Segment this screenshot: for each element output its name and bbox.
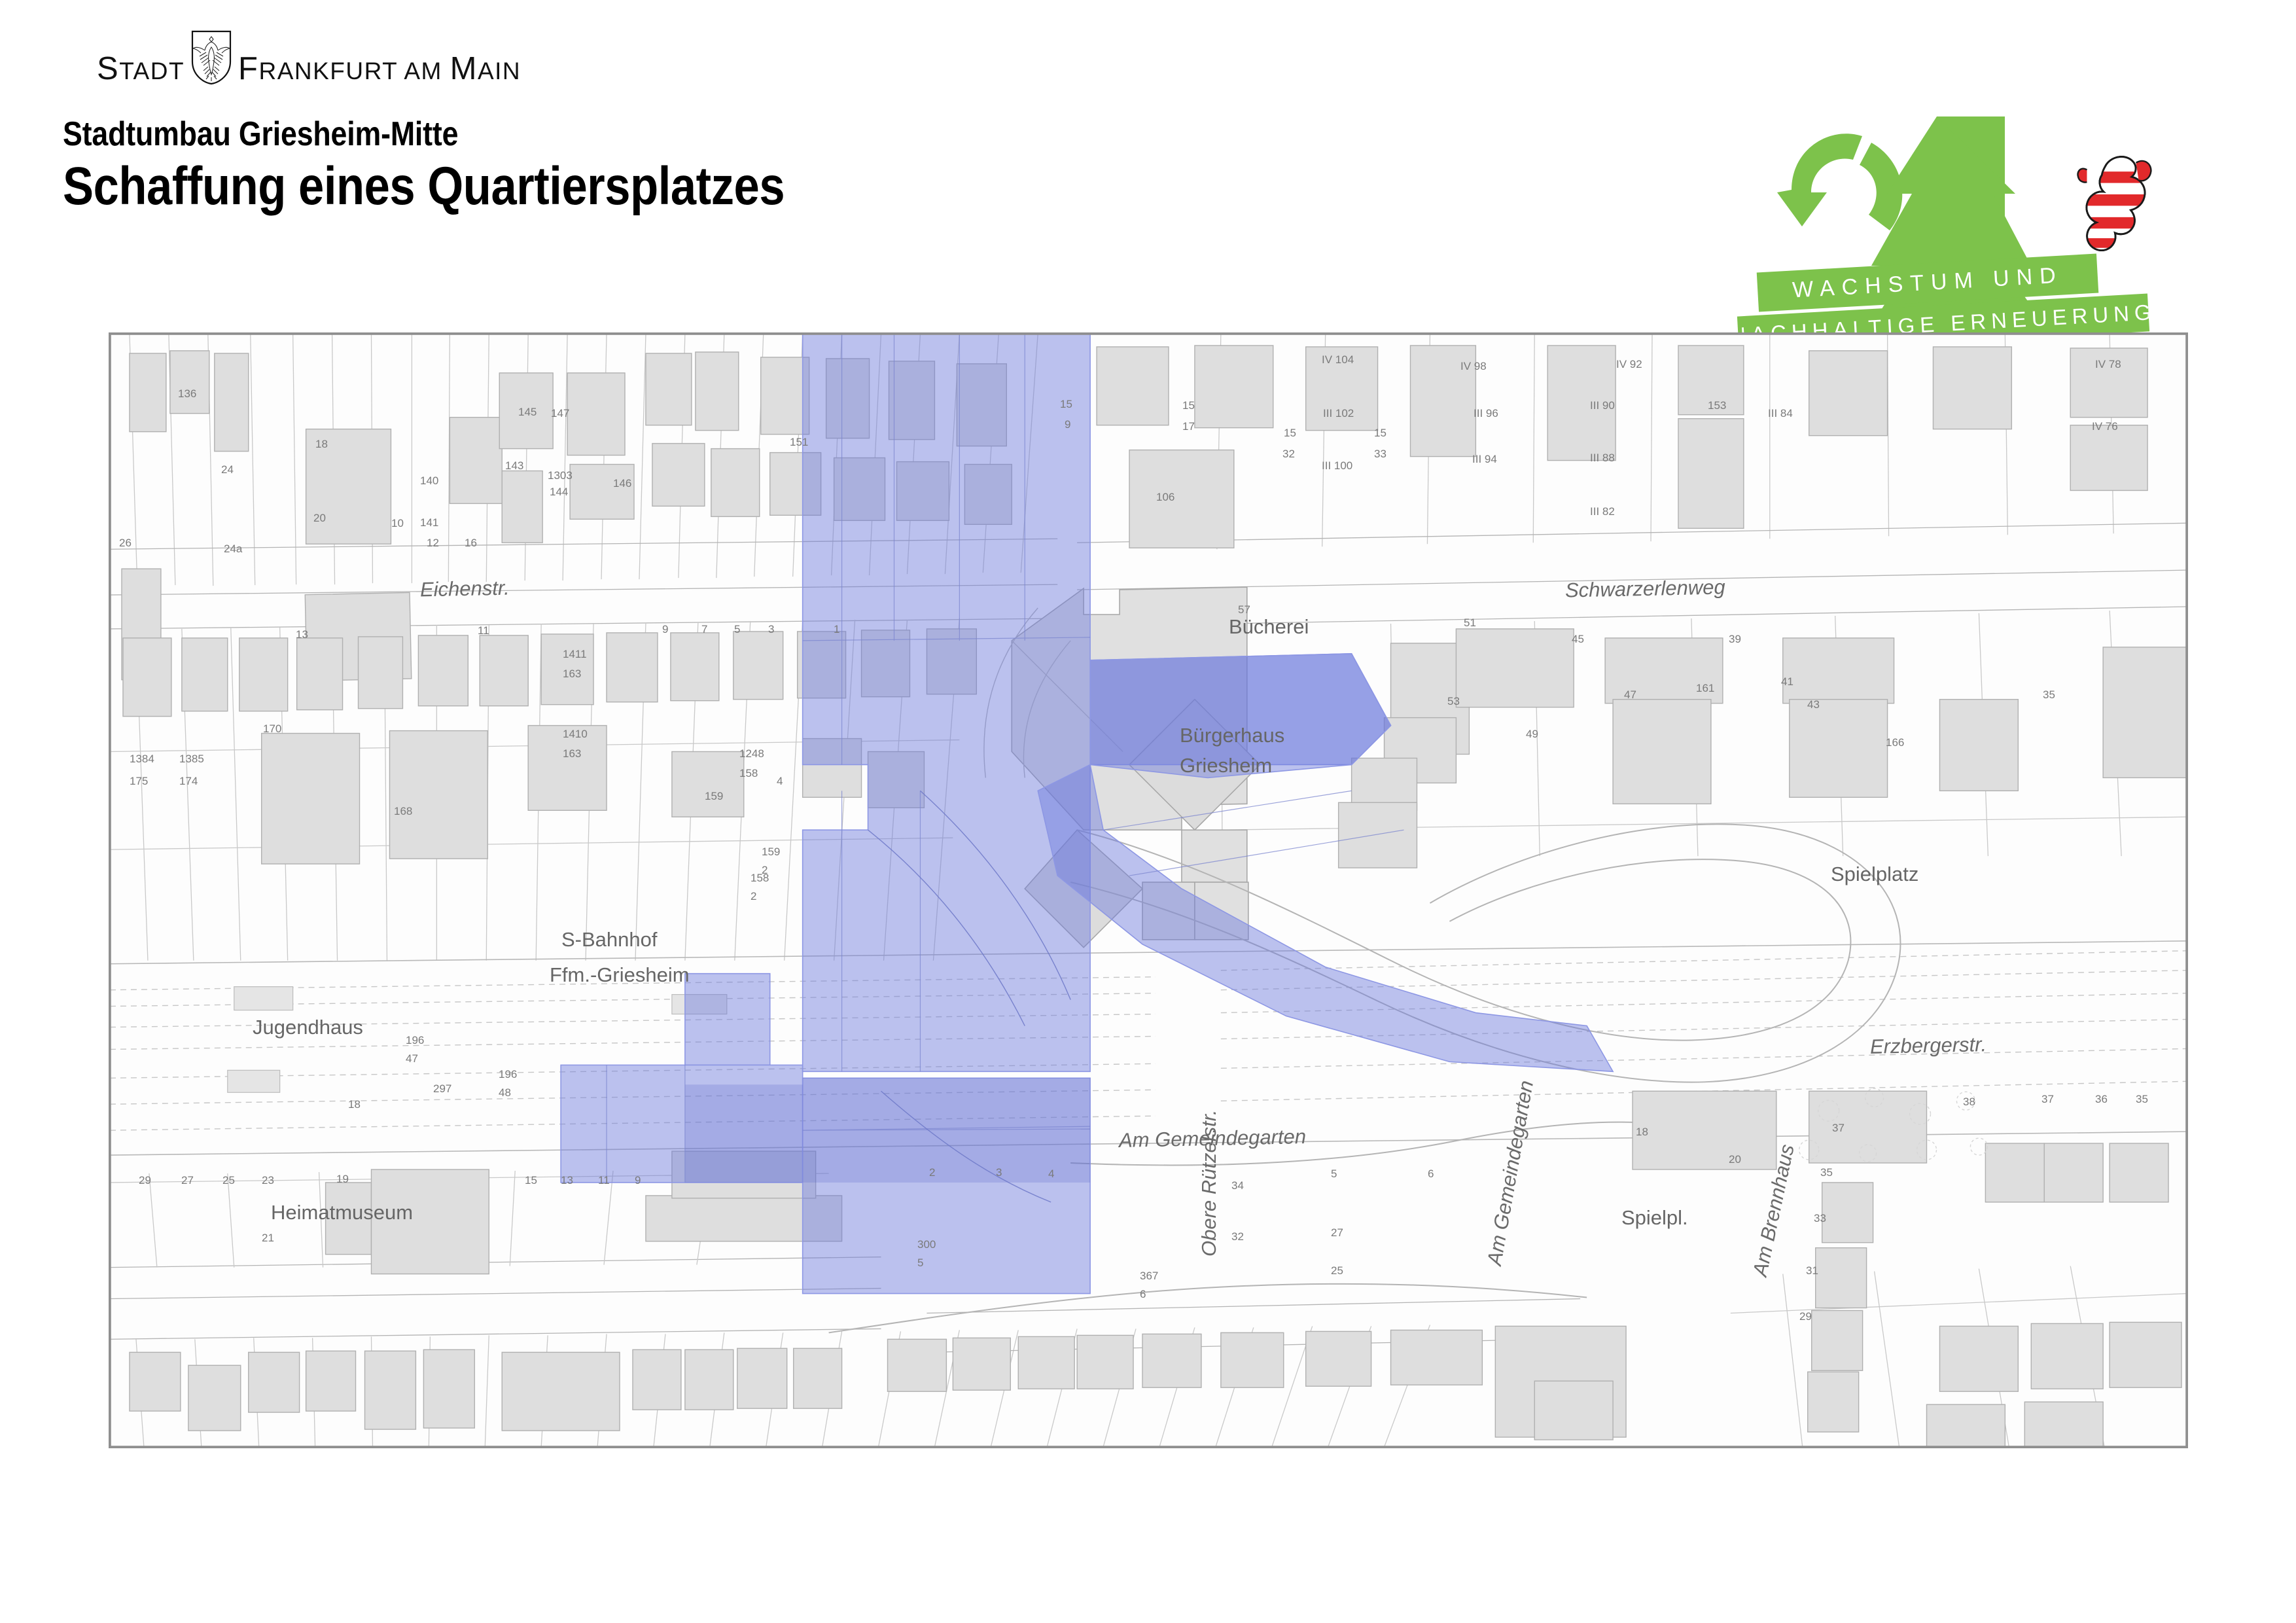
parcel-number: 5 [734, 623, 740, 636]
parcel-number: 32 [1282, 448, 1295, 461]
parcel-number: 43 [1807, 698, 1820, 711]
parcel-number: 2 [929, 1166, 935, 1179]
parcel-number: 196 [499, 1068, 517, 1081]
parcel-number: 297 [433, 1082, 451, 1096]
frankfurt-eagle-crest-icon [191, 30, 232, 85]
frankfurt-am-main-word: FRANKFURT AM MAIN [238, 53, 521, 85]
parcel-number: 19 [336, 1173, 349, 1186]
parcel-number: 13 [561, 1174, 573, 1187]
parcel-number: 33 [1814, 1212, 1826, 1225]
parcel-number: III 82 [1590, 505, 1615, 518]
parcel-number: 1303 [548, 469, 573, 482]
parcel-number: 159 [762, 846, 780, 859]
parcel-number: 161 [1696, 682, 1714, 695]
parcel-number: 6 [1428, 1168, 1434, 1181]
parcel-number: 159 [705, 790, 723, 803]
parcel-number: 53 [1447, 695, 1460, 708]
parcel-number: 300 [917, 1238, 936, 1251]
parcel-number: 158 [739, 767, 758, 780]
parcel-number: 141 [420, 516, 438, 529]
parcel-number: 168 [394, 805, 412, 818]
parcel-number: 163 [563, 747, 581, 760]
parcel-number: 146 [613, 477, 631, 490]
parcel-number: 49 [1526, 728, 1538, 741]
parcel-number: IV 76 [2092, 420, 2118, 433]
parcel-number: 25 [1331, 1264, 1343, 1277]
parcel-number: 48 [499, 1086, 511, 1099]
parcel-number: 27 [1331, 1226, 1343, 1240]
parcel-number: 26 [119, 537, 132, 550]
parcel-number: 45 [1572, 633, 1584, 646]
parcel-number: 38 [1963, 1096, 1975, 1109]
parcel-number: 20 [1729, 1153, 1741, 1166]
parcel-number: 33 [1374, 448, 1386, 461]
parcel-number: IV 104 [1322, 353, 1354, 366]
parcel-number: III 88 [1590, 452, 1615, 465]
parcel-number: 170 [263, 722, 281, 736]
parcel-number: IV 98 [1460, 360, 1487, 373]
parcel-number: 32 [1231, 1230, 1244, 1243]
parcel-number: III 96 [1474, 407, 1498, 420]
parcel-number: 1410 [563, 728, 588, 741]
parcel-number: 15 [525, 1174, 537, 1187]
parcel-number: 4 [1048, 1168, 1054, 1181]
parcel-number: 47 [1624, 688, 1636, 702]
parcel-number: 51 [1464, 616, 1476, 630]
stadt-word: STADT [97, 53, 185, 85]
parcel-number: 15 [1284, 427, 1296, 440]
project-subtitle: Stadtumbau Griesheim-Mitte [63, 115, 458, 154]
parcel-number: III 90 [1590, 399, 1615, 412]
parcel-number: 106 [1156, 491, 1174, 504]
parcel-number: 35 [1820, 1166, 1833, 1179]
parcel-number: 37 [2041, 1093, 2054, 1106]
parcel-number: 367 [1140, 1270, 1158, 1283]
parcel-number: 1385 [179, 753, 204, 766]
parcel-number: 9 [662, 623, 668, 636]
parcel-number: 153 [1708, 399, 1726, 412]
parcel-number: 3 [768, 623, 774, 636]
parcel-number: 23 [262, 1174, 274, 1187]
parcel-number: 9 [1065, 418, 1070, 431]
parcel-number: 24a [224, 543, 242, 556]
parcel-number: 41 [1781, 675, 1793, 688]
parcel-number: 29 [139, 1174, 151, 1187]
parcel-number: 10 [391, 517, 404, 530]
parcel-number: 25 [222, 1174, 235, 1187]
parcel-number: 13 [296, 628, 308, 641]
parcel-number: IV 78 [2095, 358, 2121, 371]
parcel-number: 35 [2136, 1093, 2148, 1106]
parcel-number: 18 [348, 1098, 361, 1111]
parcel-number: 144 [550, 486, 568, 499]
parcel-number: 36 [2095, 1093, 2108, 1106]
parcel-number: 196 [406, 1034, 424, 1047]
parcel-number: 5 [917, 1257, 923, 1270]
parcel-number: III 84 [1768, 407, 1793, 420]
parcel-number: 15 [1060, 398, 1072, 411]
parcel-number: 6 [1140, 1288, 1146, 1301]
page-title: Schaffung eines Quartiersplatzes [63, 156, 785, 217]
parcel-number: 35 [2043, 688, 2055, 702]
parcel-number: 15 [1182, 399, 1195, 412]
parcel-number: 34 [1231, 1179, 1244, 1192]
footer-logo-bar: Bundesministerium für Wohnen, Stadtentwi… [0, 1476, 2296, 1623]
parcel-number: 1411 [563, 648, 587, 661]
parcel-number: 24 [221, 463, 234, 476]
parcel-number: 147 [551, 407, 569, 420]
parcel-number: 5 [1331, 1168, 1337, 1181]
parcel-number: III 94 [1472, 453, 1497, 466]
parcel-number: 175 [130, 775, 148, 788]
parcel-number: III 100 [1322, 459, 1352, 473]
parcel-number: 151 [790, 436, 808, 449]
parcel-number: 31 [1806, 1264, 1818, 1277]
parcel-number: 7 [701, 623, 707, 636]
parcel-number: 15 [1374, 427, 1386, 440]
parcel-number: 136 [178, 387, 196, 401]
parcel-number: 3 [996, 1166, 1002, 1179]
cadastral-map[interactable]: Eichenstr. Schwarzerlenweg Erzbergerstr.… [109, 332, 2188, 1448]
parcel-number: 18 [1636, 1126, 1648, 1139]
parcel-number: 4 [777, 775, 783, 788]
parcel-number: 16 [465, 537, 477, 550]
parcel-number: 11 [598, 1174, 610, 1187]
stadt-frankfurt-logo: STADT FRANKFURT AM MAIN [97, 30, 521, 85]
parcel-number: 27 [181, 1174, 194, 1187]
parcel-number: 20 [313, 512, 326, 525]
parcel-number: 17 [1182, 420, 1195, 433]
parcel-number: 166 [1886, 736, 1904, 749]
parcel-number: 1248 [739, 747, 764, 760]
parcel-number: 143 [505, 459, 523, 473]
parcel-number: 174 [179, 775, 198, 788]
parcel-number: 140 [420, 474, 438, 488]
parcel-number: 47 [406, 1052, 418, 1065]
parcel-number: 39 [1729, 633, 1741, 646]
parcel-number: 21 [262, 1232, 274, 1245]
parcel-number: 2 [751, 890, 756, 903]
parcel-number: 29 [1799, 1310, 1812, 1323]
parcel-number: 18 [315, 438, 328, 451]
parcel-number: 1 [834, 623, 839, 636]
poster-page: STADT FRANKFURT AM MAIN Stadtumbau Gries… [0, 0, 2296, 1623]
parcel-number: 11 [478, 624, 489, 637]
parcel-number: 12 [427, 537, 439, 550]
parcel-number: 145 [518, 406, 537, 419]
parcel-number: 1384 [130, 753, 154, 766]
parcel-number: 163 [563, 668, 581, 681]
parcel-number: IV 92 [1616, 358, 1642, 371]
parcel-number: 158 [751, 872, 769, 885]
parcel-number: III 102 [1323, 407, 1354, 420]
parcel-number: 37 [1832, 1122, 1845, 1135]
parcel-number: 9 [635, 1174, 641, 1187]
parcel-number: 57 [1238, 603, 1250, 616]
